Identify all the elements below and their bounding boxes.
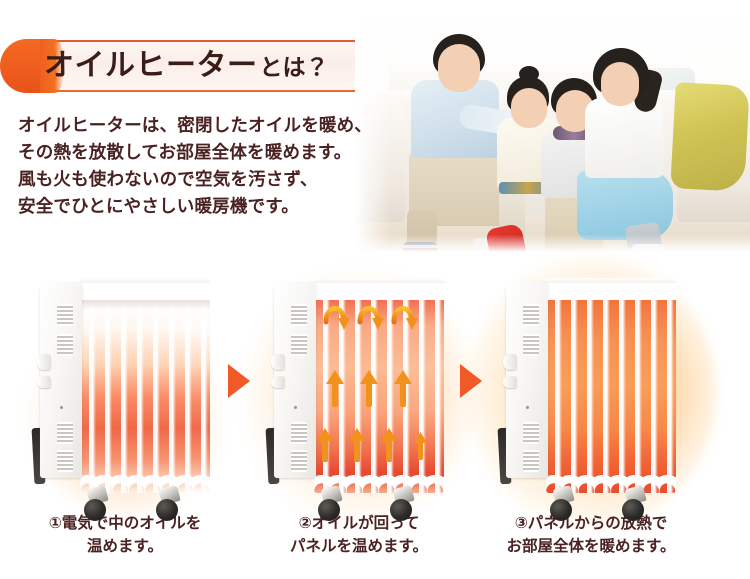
step-2-illustration (252, 262, 466, 510)
step-3-caption: ③パネルからの放熱で お部屋全体を暖めます。 (484, 512, 698, 558)
step-1-illustration (18, 262, 232, 510)
mother-slipper (631, 244, 667, 252)
vent-slot (57, 304, 73, 326)
throw-blanket (670, 82, 749, 192)
fin-top-cap (80, 278, 210, 283)
fin-top-cap (314, 278, 444, 283)
control-knob[interactable] (37, 376, 51, 388)
radiator-fins (80, 278, 210, 493)
fin-top-cap (546, 278, 676, 283)
control-panel (506, 282, 548, 478)
control-knob[interactable] (271, 354, 285, 370)
step-1-caption-line-2: 温めます。 (18, 535, 232, 558)
family-photo (355, 0, 750, 252)
step-separator-arrow-2 (460, 364, 482, 398)
step-1: ①電気で中のオイルを 温めます。 (18, 262, 232, 579)
caster-wheel-right (390, 487, 416, 523)
vent-slot (523, 334, 539, 356)
step-3-illustration (484, 262, 698, 510)
step-2: ②オイルが回って パネルを温めます。 (252, 262, 466, 579)
caster-roller (550, 499, 572, 521)
indicator-dot (526, 406, 529, 409)
page-title-main: オイルヒーター (44, 49, 258, 82)
fin-separators (546, 278, 676, 493)
step-1-caption: ①電気で中のオイルを 温めます。 (18, 512, 232, 558)
step-3-caption-line-1: ③パネルからの放熱で (484, 512, 698, 535)
page-title: オイルヒーターとは？ (44, 43, 329, 94)
process-steps: ①電気で中のオイルを 温めます。 (0, 262, 750, 579)
control-knob[interactable] (271, 376, 285, 388)
intro-line-4: 安全でひとにやさしい暖房機です。 (18, 193, 368, 220)
control-knob[interactable] (503, 376, 517, 388)
control-panel (274, 282, 316, 478)
intro-paragraph: オイルヒーターは、密閉したオイルを暖め、 その熱を放散してお部屋全体を暖めます。… (18, 112, 368, 220)
vent-slot (291, 422, 307, 444)
indicator-dot (60, 406, 63, 409)
oil-heater (40, 278, 210, 503)
intro-line-2: その熱を放散してお部屋全体を暖めます。 (18, 139, 368, 166)
vent-slot (291, 450, 307, 472)
oil-heater (274, 278, 444, 503)
vent-slot (291, 334, 307, 356)
vent-slot (523, 450, 539, 472)
vent-slot (57, 422, 73, 444)
control-panel (40, 282, 82, 478)
caster-roller (156, 499, 178, 521)
step-2-caption: ②オイルが回って パネルを温めます。 (252, 512, 466, 558)
vent-slot (291, 304, 307, 326)
caster-roller (390, 499, 412, 521)
fin-separators (314, 278, 444, 493)
father-head (438, 44, 480, 92)
step-2-caption-line-1: ②オイルが回って (252, 512, 466, 535)
oil-heater (506, 278, 676, 503)
vent-slot (523, 304, 539, 326)
step-separator-arrow-1 (228, 364, 250, 398)
caster-wheel-left (84, 487, 110, 523)
step-2-caption-line-2: パネルを温めます。 (252, 535, 466, 558)
caster-roller (622, 499, 644, 521)
intro-line-3: 風も火も使わないので空気を汚さず、 (18, 166, 368, 193)
fin-separators (80, 278, 210, 493)
intro-line-1: オイルヒーターは、密閉したオイルを暖め、 (18, 112, 368, 139)
vent-slot (57, 334, 73, 356)
control-knob[interactable] (503, 354, 517, 370)
person-mother (583, 48, 679, 252)
vent-slot (57, 450, 73, 472)
caster-wheel-right (156, 487, 182, 523)
mother-head (601, 62, 639, 106)
caster-wheel-left (550, 487, 576, 523)
father-striped-sock (403, 242, 437, 252)
step-3-caption-line-2: お部屋全体を暖めます。 (484, 535, 698, 558)
control-knob[interactable] (37, 354, 51, 370)
vent-slot (523, 422, 539, 444)
caster-roller (318, 499, 340, 521)
fin-top-shadow (80, 300, 210, 310)
step-3: ③パネルからの放熱で お部屋全体を暖めます。 (484, 262, 698, 579)
radiator-fins (546, 278, 676, 493)
caster-roller (84, 499, 106, 521)
indicator-dot (294, 406, 297, 409)
caster-wheel-left (318, 487, 344, 523)
step-1-caption-line-1: ①電気で中のオイルを (18, 512, 232, 535)
caster-wheel-right (622, 487, 648, 523)
page-title-suffix: とは？ (260, 54, 329, 80)
radiator-fins (314, 278, 444, 493)
